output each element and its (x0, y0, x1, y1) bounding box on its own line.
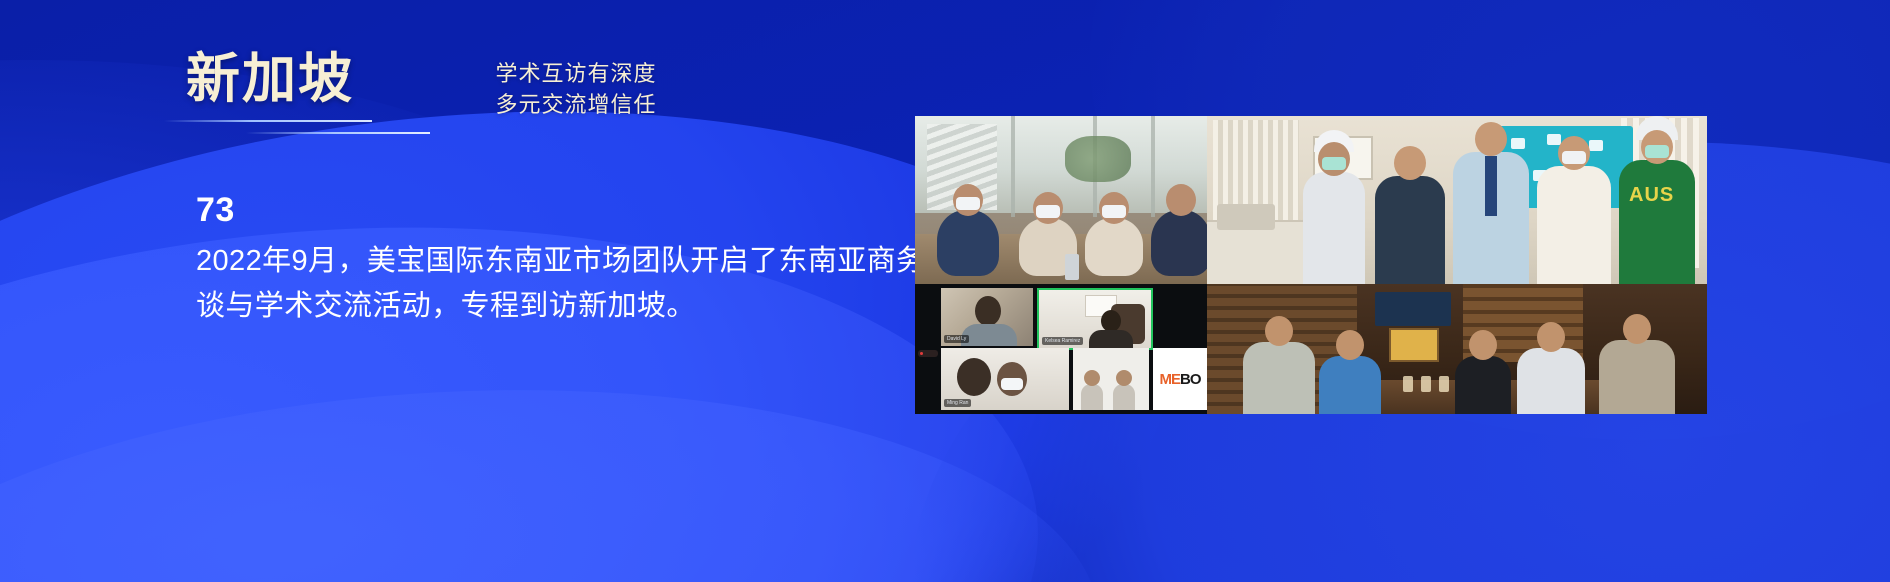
cafe-person-1 (937, 210, 999, 276)
mebo-logo-part-1: ME (1160, 371, 1181, 388)
restaurant-group-dinner-photo (1207, 284, 1707, 414)
restaurant-person-4 (1517, 348, 1585, 414)
video-tile-1-head (975, 296, 1001, 326)
video-tile-2-body (1089, 330, 1133, 348)
restaurant-person-2 (1319, 356, 1381, 414)
video-conference-grid-photo: David Ly Kelsea Ramirez Ming Ran (915, 284, 1207, 414)
video-tile-5-brand-logo: MEBO (1153, 348, 1207, 410)
collage-bottom-row: David Ly Kelsea Ramirez Ming Ran (915, 284, 1707, 414)
decorative-line-upper (164, 120, 372, 122)
hospital-person-1 (1303, 172, 1365, 284)
video-tile-2-name: Kelsea Ramirez (1042, 337, 1083, 345)
video-tile-3-head-b (997, 362, 1027, 396)
video-tile-4-person-a (1081, 384, 1103, 410)
cafe-person-3 (1085, 218, 1143, 276)
subtitle-block: 学术互访有深度 多元交流增信任 (486, 58, 666, 120)
restaurant-wall-art (1389, 328, 1439, 362)
item-number: 73 (196, 192, 996, 229)
photo-collage: AUS David Ly Kelsea Ramirez (915, 116, 1707, 414)
title-block: 新加坡 (186, 52, 354, 146)
jersey-text: AUS (1629, 184, 1674, 207)
video-tile-1: David Ly (941, 288, 1033, 346)
video-tile-1-body (961, 324, 1017, 346)
cafe-person-4 (1151, 210, 1207, 276)
decorative-line-lower (246, 132, 430, 134)
restaurant-person-5 (1599, 340, 1675, 414)
cafe-tumbler (1065, 254, 1079, 280)
restaurant-glass-1 (1403, 376, 1413, 392)
hospital-printer (1217, 204, 1275, 230)
cafe-mullion-1 (1011, 116, 1015, 217)
video-tile-4-person-b (1113, 384, 1135, 410)
video-tile-3: Ming Ran (941, 348, 1069, 410)
recording-indicator-icon (918, 350, 938, 357)
video-tile-4 (1073, 348, 1149, 410)
cafe-meeting-photo (915, 116, 1207, 284)
collage-top-row: AUS (915, 116, 1707, 284)
restaurant-person-3 (1455, 356, 1511, 414)
subtitle-line-1: 学术互访有深度 (486, 58, 666, 89)
title-decorative-rules (186, 120, 354, 146)
restaurant-glass-2 (1421, 376, 1431, 392)
page-title: 新加坡 (186, 52, 354, 106)
video-tile-2-active-speaker: Kelsea Ramirez (1037, 288, 1153, 350)
video-tile-1-name: David Ly (944, 335, 969, 343)
restaurant-wall-screen (1375, 292, 1451, 326)
slide-root: 新加坡 学术互访有深度 多元交流增信任 73 2022年9月，美宝国际东南亚市场… (0, 0, 1890, 582)
hospital-person-3 (1453, 152, 1529, 284)
cafe-mullion-3 (1151, 116, 1155, 217)
mebo-logo: MEBO (1160, 372, 1201, 387)
hospital-person-4 (1537, 166, 1611, 284)
video-tile-3-head-a (957, 358, 991, 396)
restaurant-person-1 (1243, 342, 1315, 414)
content-block: 73 2022年9月，美宝国际东南亚市场团队开启了东南亚商务会谈与学术交流活动，… (196, 192, 996, 329)
mebo-logo-part-2: BO (1180, 371, 1201, 388)
hospital-person-2 (1375, 176, 1445, 284)
restaurant-glass-3 (1439, 376, 1449, 392)
hospital-person-5: AUS (1619, 160, 1695, 284)
cafe-foliage (1065, 136, 1131, 182)
subtitle-line-2: 多元交流增信任 (486, 89, 666, 120)
hospital-staff-group-photo: AUS (1207, 116, 1707, 284)
video-tile-3-name: Ming Ran (944, 399, 971, 407)
body-paragraph: 2022年9月，美宝国际东南亚市场团队开启了东南亚商务会谈与学术交流活动，专程到… (196, 239, 956, 329)
video-tile-2-head (1101, 310, 1121, 332)
